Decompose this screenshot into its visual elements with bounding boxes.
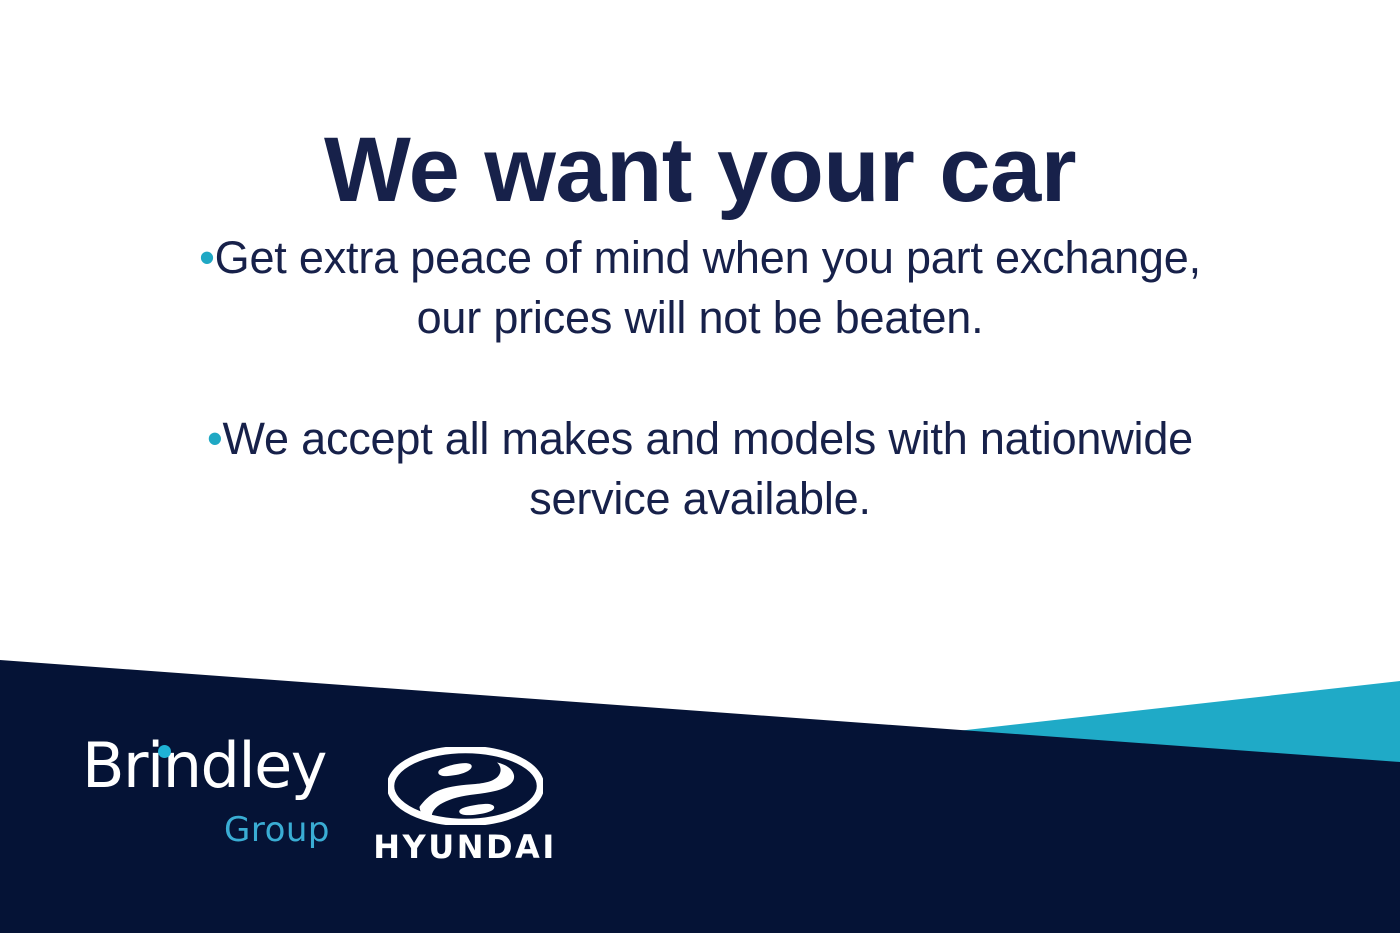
bullet-dot-icon: • <box>199 232 215 283</box>
list-item: •Get extra peace of mind when you part e… <box>180 228 1220 349</box>
page-title: We want your car <box>0 124 1400 216</box>
poster-canvas: We want your car •Get extra peace of min… <box>0 0 1400 933</box>
brindley-wordmark: Brindley <box>82 735 326 797</box>
list-item-text: Get extra peace of mind when you part ex… <box>215 232 1201 343</box>
hyundai-emblem-icon <box>388 747 543 825</box>
hyundai-wordmark: HYUNDAI <box>365 831 565 863</box>
bullet-dot-icon: • <box>207 413 223 464</box>
teal-wedge-shape <box>860 681 1400 766</box>
list-item-text: We accept all makes and models with nati… <box>223 413 1193 524</box>
list-item: •We accept all makes and models with nat… <box>180 409 1220 530</box>
bullet-list: •Get extra peace of mind when you part e… <box>180 228 1220 529</box>
bullet-spacer <box>180 349 1220 409</box>
hyundai-logo: HYUNDAI <box>365 747 565 872</box>
brindley-subtitle: Group <box>82 813 330 847</box>
brindley-group-logo: Brindley Group <box>82 735 332 875</box>
footer-logo-row: Brindley Group HYUNDAI <box>0 735 620 885</box>
brindley-i-dot-icon <box>158 745 171 758</box>
